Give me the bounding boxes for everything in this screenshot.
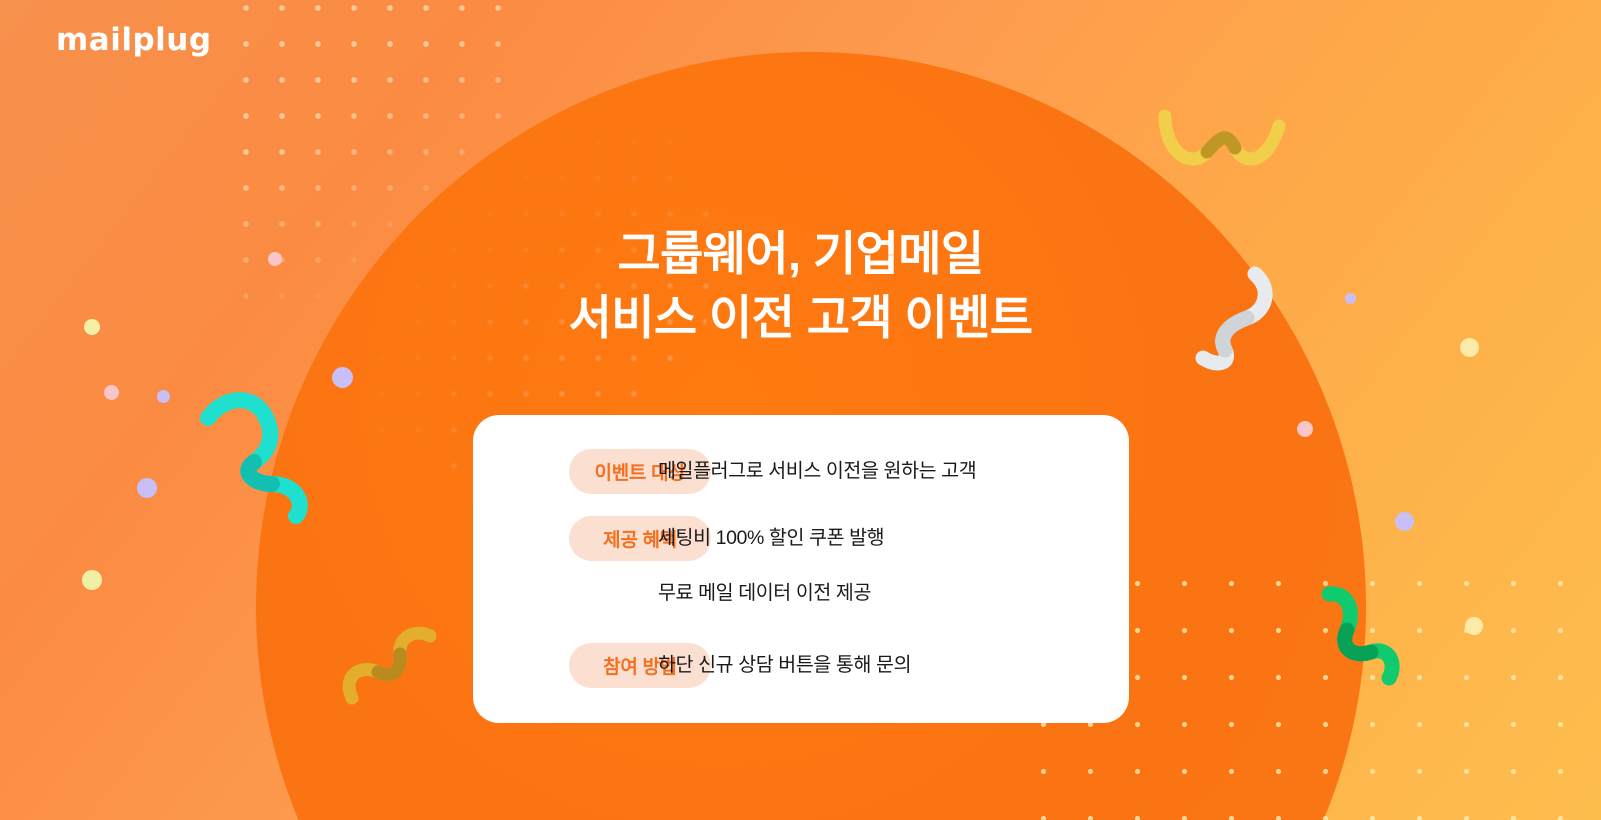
event-row-target: 이벤트 대상 메일플러그로 서비스 이전을 원하는 고객 — [473, 449, 1129, 494]
mailplug-logo[interactable]: mailplug — [56, 22, 212, 58]
confetti-dot — [1395, 512, 1414, 531]
event-row-howto-text: 하단 신규 상담 버튼을 통해 문의 — [649, 643, 911, 688]
pill-slot — [473, 571, 649, 621]
green-ribbon-right-icon — [1293, 572, 1408, 697]
event-row-benefit-text: 세팅비 100% 할인 쿠폰 발행 — [649, 516, 884, 561]
gold-ribbon-bottom-left-icon — [336, 610, 451, 710]
teal-ribbon-left-icon — [196, 380, 346, 525]
confetti-dot — [104, 385, 119, 400]
event-row-benefit: 제공 혜택 세팅비 100% 할인 쿠폰 발행 — [473, 516, 1129, 561]
headline-line-2: 서비스 이전 고객 이벤트 — [0, 286, 1601, 350]
event-banner: mailplug 그룹웨어, 기업메일 서비스 이전 고객 이벤트 이벤트 대상… — [0, 0, 1601, 820]
confetti-dot — [157, 390, 170, 403]
confetti-dot — [1465, 617, 1483, 635]
confetti-dot — [1297, 421, 1313, 437]
confetti-dot — [137, 478, 157, 498]
confetti-dot — [332, 367, 353, 388]
pill-slot: 제공 혜택 — [473, 516, 649, 561]
page-title: 그룹웨어, 기업메일 서비스 이전 고객 이벤트 — [0, 222, 1601, 350]
event-row-benefit-secondary-text: 무료 메일 데이터 이전 제공 — [649, 571, 871, 616]
pill-slot: 참여 방법 — [473, 643, 649, 688]
event-row-target-text: 메일플러그로 서비스 이전을 원하는 고객 — [649, 449, 976, 494]
event-row-benefit-secondary: 무료 메일 데이터 이전 제공 — [473, 571, 1129, 621]
event-detail-rows: 이벤트 대상 메일플러그로 서비스 이전을 원하는 고객 제공 혜택 세팅비 1… — [473, 449, 1129, 688]
gold-ribbon-top-right-icon — [1155, 108, 1295, 188]
event-detail-card: 이벤트 대상 메일플러그로 서비스 이전을 원하는 고객 제공 혜택 세팅비 1… — [473, 415, 1129, 723]
confetti-dot — [82, 570, 102, 590]
headline-line-1: 그룹웨어, 기업메일 — [0, 222, 1601, 286]
pill-slot: 이벤트 대상 — [473, 449, 649, 494]
event-row-howto: 참여 방법 하단 신규 상담 버튼을 통해 문의 — [473, 643, 1129, 688]
